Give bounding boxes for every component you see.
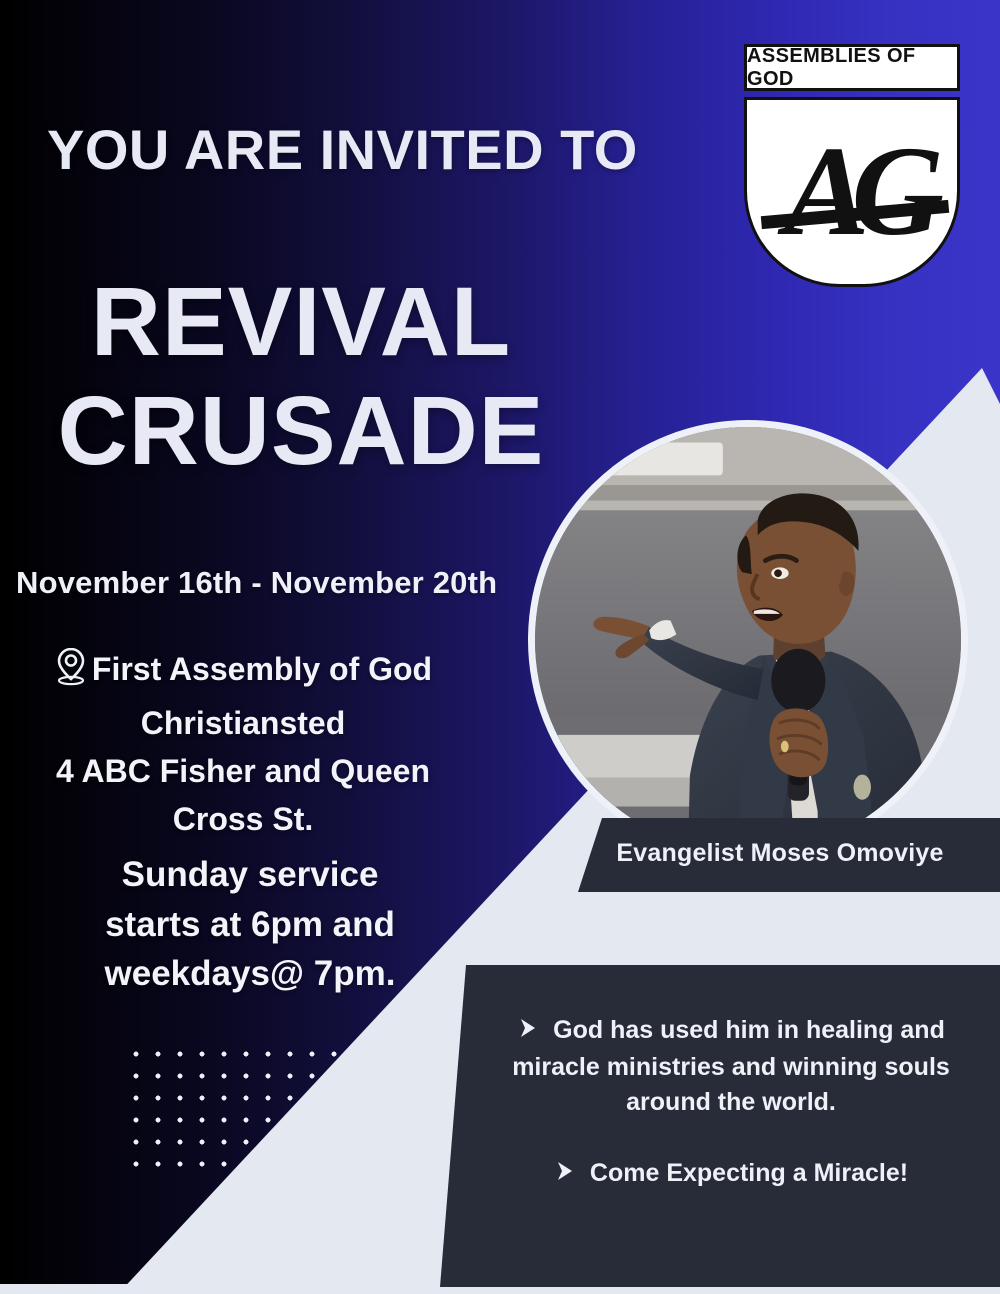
bullet-item-2: Come Expecting a Miracle! bbox=[486, 1156, 976, 1193]
speaker-name: Evangelist Moses Omoviye bbox=[560, 839, 1000, 868]
bullet-text-2: Come Expecting a Miracle! bbox=[590, 1159, 908, 1187]
bullet-item-1: God has used him in healing and miracle … bbox=[486, 1013, 976, 1121]
service-times-line-3: weekdays@ 7pm. bbox=[40, 949, 460, 999]
chevron-right-icon bbox=[554, 1157, 580, 1193]
chevron-right-icon bbox=[517, 1014, 543, 1050]
speaker-info-panel: God has used him in healing and miracle … bbox=[430, 965, 1000, 1287]
venue-line-4: Cross St. bbox=[8, 795, 478, 843]
speaker-name-banner: Evangelist Moses Omoviye bbox=[560, 818, 1000, 892]
service-times-line-1: Sunday service bbox=[40, 850, 460, 900]
logo-banner: ASSEMBLIES OF GOD bbox=[744, 44, 960, 91]
assemblies-of-god-logo: ASSEMBLIES OF GOD AG bbox=[744, 44, 960, 287]
event-dates: November 16th - November 20th bbox=[16, 565, 497, 601]
venue-line-3: 4 ABC Fisher and Queen bbox=[8, 747, 478, 795]
title-line-1: REVIVAL bbox=[91, 267, 511, 376]
service-times-line-2: starts at 6pm and bbox=[40, 900, 460, 950]
bullet-text-1: God has used him in healing and miracle … bbox=[512, 1016, 950, 1116]
service-times-block: Sunday service starts at 6pm and weekday… bbox=[40, 850, 460, 999]
venue-name: First Assembly of God bbox=[92, 651, 432, 687]
flyer-poster: YOU ARE INVITED TO REVIVAL CRUSADE Novem… bbox=[0, 0, 1000, 1294]
invitation-kicker: YOU ARE INVITED TO bbox=[47, 122, 638, 178]
logo-monogram: AG bbox=[747, 97, 960, 286]
location-pin-icon bbox=[54, 646, 88, 699]
venue-line-2: Christiansted bbox=[8, 699, 478, 747]
venue-line-1: First Assembly of God bbox=[8, 645, 478, 699]
logo-banner-text: ASSEMBLIES OF GOD bbox=[747, 45, 957, 91]
speaker-photo bbox=[528, 420, 968, 860]
logo-shield: AG bbox=[744, 97, 960, 287]
page-title: REVIVAL CRUSADE bbox=[36, 268, 566, 485]
venue-block: First Assembly of God Christiansted 4 AB… bbox=[8, 645, 478, 843]
title-line-2: CRUSADE bbox=[36, 377, 566, 486]
